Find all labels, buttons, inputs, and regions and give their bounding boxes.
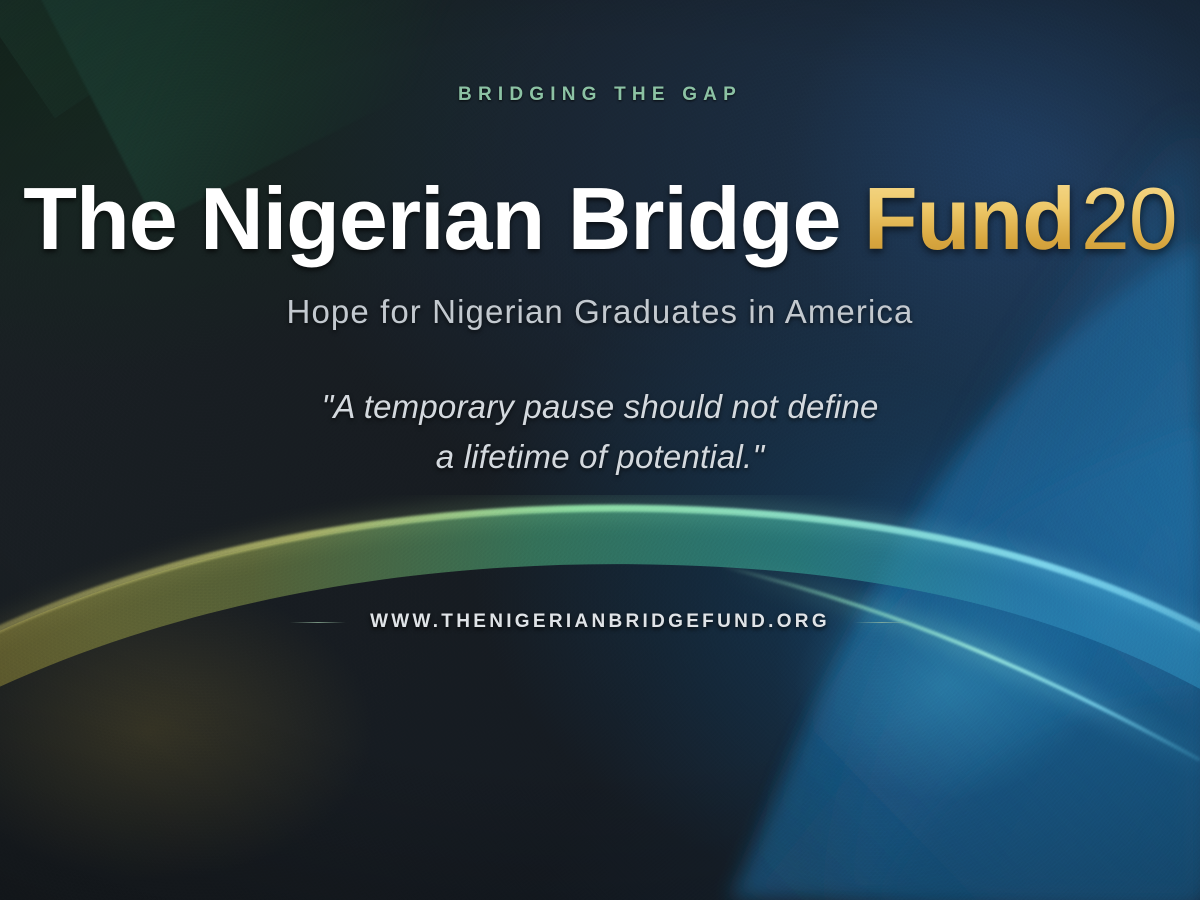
quote-line-2: a lifetime of potential."	[0, 432, 1200, 482]
quote-line-1: "A temporary pause should not define	[0, 382, 1200, 432]
rule-right-decoration	[854, 622, 910, 623]
hero-content: BRIDGING THE GAP The Nigerian Bridge Fun…	[0, 0, 1200, 900]
page-title: The Nigerian Bridge Fund20	[0, 172, 1200, 265]
title-part-light: The Nigerian	[23, 169, 544, 268]
website-url[interactable]: WWW.THENIGERIANBRIDGEFUND.ORG	[370, 611, 830, 633]
rule-left-decoration	[290, 622, 346, 623]
pull-quote: "A temporary pause should not define a l…	[0, 382, 1200, 482]
title-part-year: 20	[1081, 169, 1177, 268]
eyebrow-tagline: BRIDGING THE GAP	[0, 84, 1200, 106]
website-row: WWW.THENIGERIANBRIDGEFUND.ORG	[0, 611, 1200, 633]
title-part-gold: Fund	[864, 169, 1075, 268]
page-subtitle: Hope for Nigerian Graduates in America	[0, 293, 1200, 331]
hero-banner: BRIDGING THE GAP The Nigerian Bridge Fun…	[0, 0, 1200, 900]
title-part-bold: Bridge	[568, 169, 841, 268]
